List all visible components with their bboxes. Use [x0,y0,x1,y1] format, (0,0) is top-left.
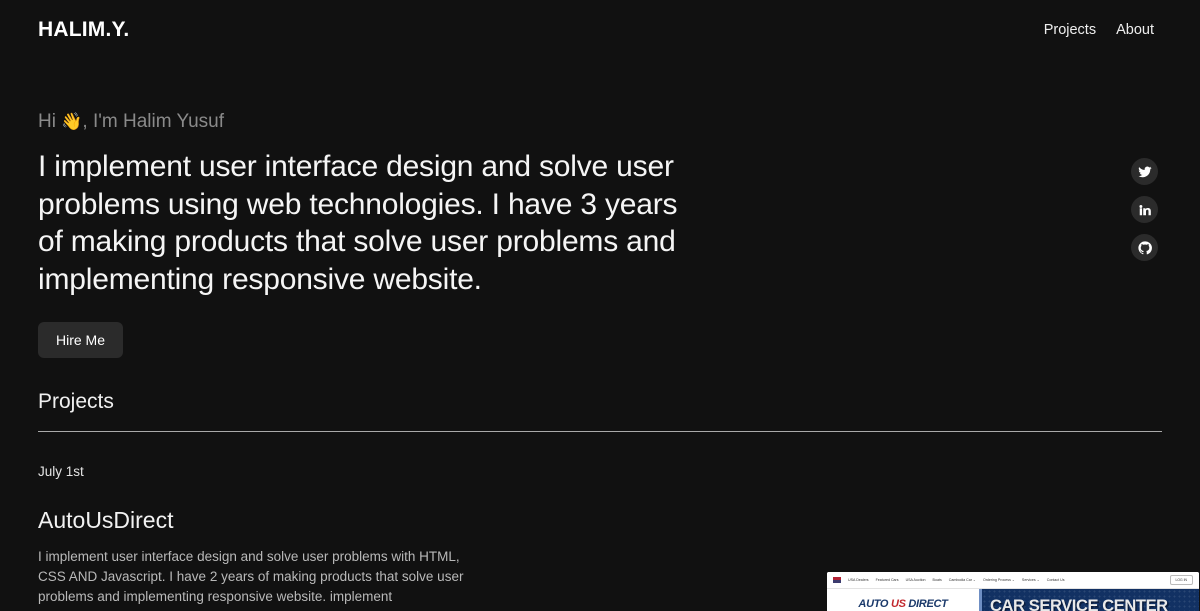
thumb-logo-us: US [891,598,906,610]
hero-greeting: Hi 👋, I'm Halim Yusuf [38,108,738,136]
thumbnail-left-panel: AUTO US DIRECT [827,589,979,611]
greeting-suffix: , I'm Halim Yusuf [82,111,224,132]
site-header: HALIM.Y. Projects About [0,0,1200,60]
project-date: July 1st [38,464,1162,479]
project-title[interactable]: AutoUsDirect [38,507,1162,534]
wave-hand-icon: 👋 [61,112,82,131]
site-logo[interactable]: HALIM.Y. [38,18,129,42]
section-divider [38,431,1162,432]
portfolio-page: HALIM.Y. Projects About Hi 👋, I'm Halim … [0,0,1200,611]
nav-link-about[interactable]: About [1116,22,1154,38]
thumb-nav-ordering-process: Ordering Process ⌄ [983,578,1015,582]
thumb-site-logo: AUTO US DIRECT [858,599,947,611]
thumbnail-site-nav: USA Dealers Featured Cars USA Auction Bo… [827,572,1199,589]
hero-section: Hi 👋, I'm Halim Yusuf I implement user i… [38,108,738,298]
main-nav: Projects About [1044,22,1154,38]
linkedin-icon [1138,203,1152,217]
linkedin-link[interactable] [1131,196,1158,223]
thumb-nav-usa-auction: USA Auction [906,578,926,582]
thumb-login-button: LOG IN [1170,575,1194,585]
thumb-nav-usa-dealers: USA Dealers [848,578,869,582]
thumb-logo-text: AUTO US DIRECT [858,599,947,610]
greeting-prefix: Hi [38,111,61,132]
projects-heading: Projects [38,390,1162,414]
twitter-icon [1138,165,1152,179]
thumb-nav-boats: Boats [933,578,942,582]
thumb-nav-featured-cars: Featured Cars [876,578,899,582]
hire-me-button[interactable]: Hire Me [38,322,123,358]
thumbnail-inner: USA Dealers Featured Cars USA Auction Bo… [827,572,1199,611]
github-icon [1138,241,1152,255]
projects-section: Projects July 1st AutoUsDirect I impleme… [38,390,1162,607]
thumb-nav-contact-us: Contact Us [1047,578,1065,582]
thumb-logo-direct: DIRECT [908,598,947,610]
thumbnail-body: AUTO US DIRECT [827,589,1199,611]
twitter-link[interactable] [1131,158,1158,185]
thumb-nav-cambodia-car: Cambodia Car ⌄ [949,578,976,582]
github-link[interactable] [1131,234,1158,261]
us-flag-icon [833,577,841,583]
thumb-nav-services: Services ⌄ [1022,578,1040,582]
project-item-autousdirect: July 1st AutoUsDirect I implement user i… [38,464,1162,607]
project-thumbnail[interactable]: USA Dealers Featured Cars USA Auction Bo… [827,572,1199,611]
nav-link-projects[interactable]: Projects [1044,22,1096,38]
social-links [1131,158,1158,261]
project-description: I implement user interface design and so… [38,547,478,607]
thumbnail-right-panel: CAR SERVICE CENTER Warranty Repairs Lase… [979,589,1199,611]
thumb-service-heading: CAR SERVICE CENTER [990,598,1193,611]
hero-headline: I implement user interface design and so… [38,148,698,298]
thumb-logo-auto: AUTO [858,598,888,610]
